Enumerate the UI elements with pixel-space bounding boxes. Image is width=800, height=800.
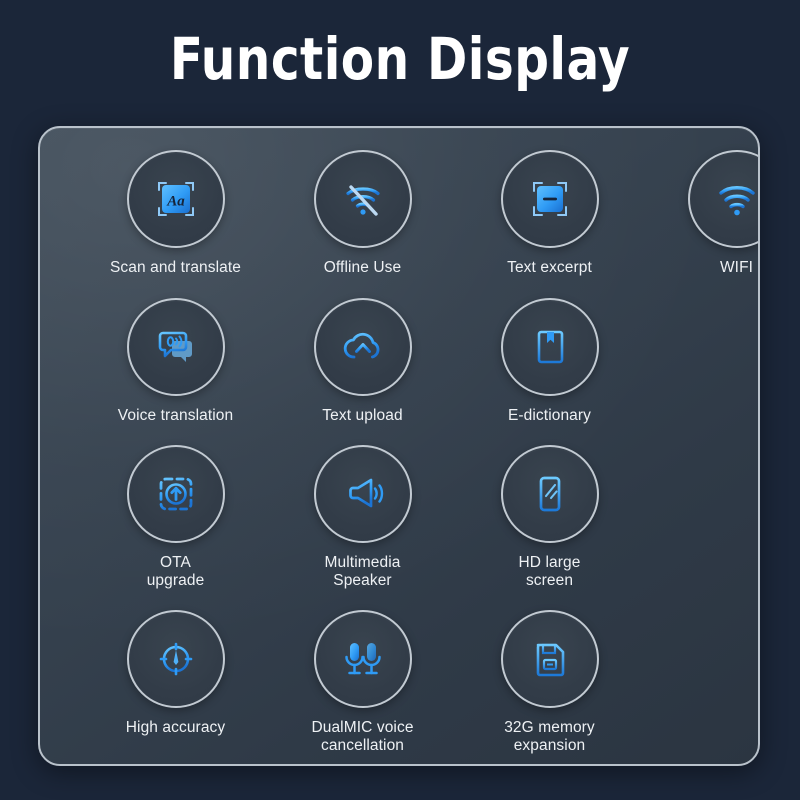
- book-bookmark-icon: [524, 321, 576, 373]
- scan-text-aa-icon: Aa: [150, 173, 202, 225]
- megaphone-icon: [337, 468, 389, 520]
- icon-circle[interactable]: [501, 298, 599, 396]
- icon-circle[interactable]: [127, 445, 225, 543]
- memory-card-icon: [524, 633, 576, 685]
- feature-item-voice-translation[interactable]: Voice translation: [82, 298, 269, 425]
- wifi-icon: [711, 173, 761, 225]
- feature-label: Offline Use: [324, 259, 402, 277]
- icon-circle[interactable]: [314, 298, 412, 396]
- feature-label: 32G memory expansion: [504, 719, 595, 756]
- feature-label: Multimedia Speaker: [325, 554, 401, 591]
- feature-label: Scan and translate: [110, 259, 241, 277]
- phone-screen-icon: [524, 468, 576, 520]
- feature-item-32g-memory-expansion[interactable]: 32G memory expansion: [456, 610, 643, 756]
- feature-label: DualMIC voice cancellation: [311, 719, 413, 756]
- cloud-upload-icon: [337, 321, 389, 373]
- feature-label: Text upload: [322, 407, 402, 425]
- icon-circle[interactable]: [501, 150, 599, 248]
- feature-item-wifi[interactable]: WIFI: [643, 150, 760, 277]
- feature-row-2: Voice translation Text upload E-dict: [82, 298, 760, 425]
- feature-item-hd-large-screen[interactable]: HD large screen: [456, 445, 643, 591]
- icon-circle[interactable]: [501, 610, 599, 708]
- icon-circle[interactable]: [127, 298, 225, 396]
- feature-item-offline-use[interactable]: Offline Use: [269, 150, 456, 277]
- icon-circle[interactable]: [314, 610, 412, 708]
- feature-row-1: Aa Scan and translate: [82, 150, 760, 277]
- feature-item-text-upload[interactable]: Text upload: [269, 298, 456, 425]
- feature-item-dualmic-voice-cancellation[interactable]: DualMIC voice cancellation: [269, 610, 456, 756]
- feature-row-3: OTA upgrade Multimedia Speaker: [82, 445, 760, 591]
- icon-circle[interactable]: Aa: [127, 150, 225, 248]
- feature-label: OTA upgrade: [147, 554, 205, 591]
- feature-label: E-dictionary: [508, 407, 591, 425]
- feature-item-text-excerpt[interactable]: Text excerpt: [456, 150, 643, 277]
- icon-circle[interactable]: [688, 150, 761, 248]
- feature-label: Text excerpt: [507, 259, 592, 277]
- feature-item-scan-and-translate[interactable]: Aa Scan and translate: [82, 150, 269, 277]
- feature-row-4: High accuracy: [82, 610, 760, 756]
- icon-circle[interactable]: [314, 150, 412, 248]
- icon-circle[interactable]: [127, 610, 225, 708]
- svg-text:Aa: Aa: [166, 194, 185, 210]
- speech-bubbles-voice-icon: [150, 321, 202, 373]
- feature-label: Voice translation: [118, 407, 233, 425]
- feature-panel: Aa Scan and translate: [38, 126, 760, 766]
- crosshair-target-icon: [150, 633, 202, 685]
- feature-item-e-dictionary[interactable]: E-dictionary: [456, 298, 643, 425]
- dual-microphone-icon: [337, 633, 389, 685]
- ota-upload-dashed-icon: [150, 468, 202, 520]
- icon-circle[interactable]: [314, 445, 412, 543]
- feature-label: WIFI: [720, 259, 753, 277]
- feature-label: High accuracy: [126, 719, 226, 737]
- feature-item-multimedia-speaker[interactable]: Multimedia Speaker: [269, 445, 456, 591]
- feature-label: HD large screen: [519, 554, 581, 591]
- feature-item-high-accuracy[interactable]: High accuracy: [82, 610, 269, 737]
- text-excerpt-scan-icon: [524, 173, 576, 225]
- wifi-off-icon: [337, 173, 389, 225]
- feature-item-ota-upgrade[interactable]: OTA upgrade: [82, 445, 269, 591]
- icon-circle[interactable]: [501, 445, 599, 543]
- page-title: Function Display: [28, 0, 772, 88]
